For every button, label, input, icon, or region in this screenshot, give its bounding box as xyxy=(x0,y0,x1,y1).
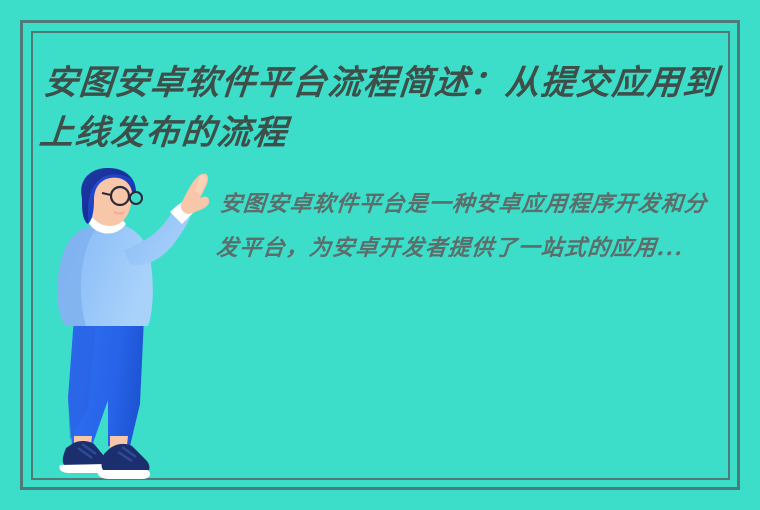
pants-shape xyxy=(68,318,144,446)
person-pointing-illustration xyxy=(52,168,212,480)
description-paragraph: 安图安卓软件平台是一种安卓应用程序开发和分发平台，为安卓开发者提供了一站式的应用… xyxy=(214,182,722,270)
poster-canvas: 安图安卓软件平台流程简述：从提交应用到上线发布的流程 安图安卓软件平台是一种安卓… xyxy=(0,0,760,510)
shoes-shape xyxy=(59,441,150,479)
pointing-hand xyxy=(181,174,209,214)
sweater-shape xyxy=(57,223,152,326)
page-title: 安图安卓软件平台流程简述：从提交应用到上线发布的流程 xyxy=(37,58,724,158)
